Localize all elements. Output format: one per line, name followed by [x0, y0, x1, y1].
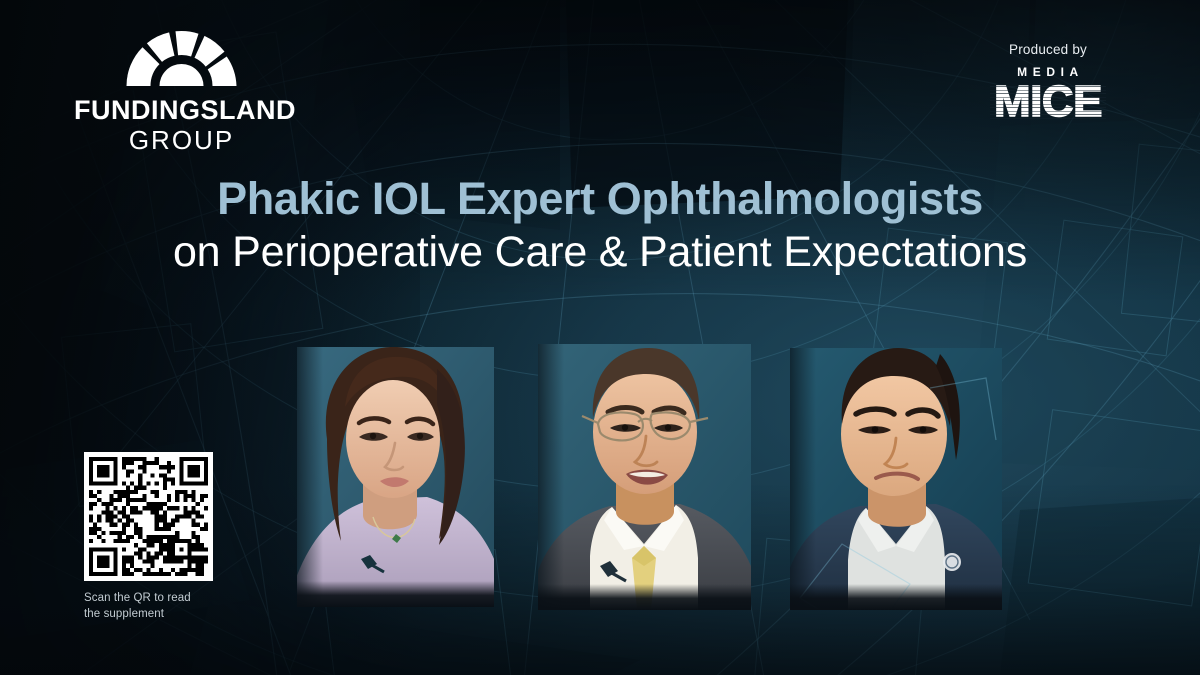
portrait-2[interactable]: [538, 344, 751, 610]
portrait-1-photo: [297, 347, 494, 607]
portrait-3[interactable]: [790, 348, 1002, 610]
portrait-3-left-fade: [790, 348, 816, 610]
portrait-1[interactable]: [297, 347, 494, 607]
portrait-1-bottom-fade: [297, 581, 494, 607]
portrait-2-left-fade: [538, 344, 564, 610]
portrait-1-left-fade: [297, 347, 323, 607]
poster-canvas: FUNDINGSLAND GROUP Produced by MEDIA MIC…: [0, 0, 1200, 675]
portrait-3-bottom-fade: [790, 584, 1002, 610]
portrait-row: [0, 0, 1200, 675]
portrait-3-photo: [790, 348, 1002, 610]
portrait-2-bottom-fade: [538, 584, 751, 610]
portrait-2-photo: [538, 344, 751, 610]
